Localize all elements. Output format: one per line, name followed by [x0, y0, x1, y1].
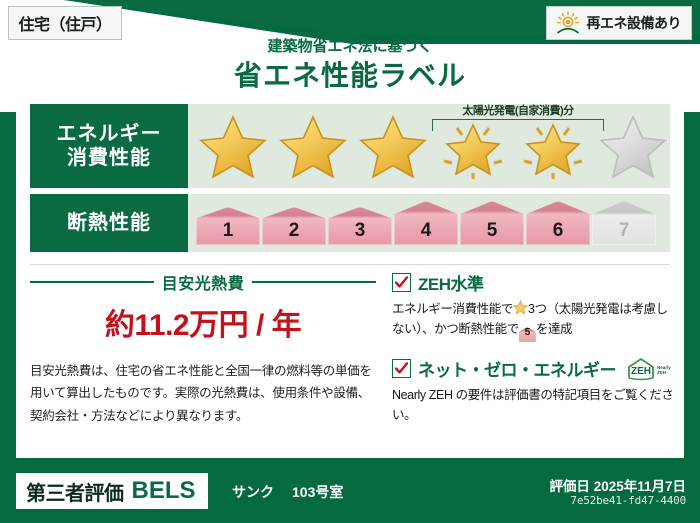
insulation-badge-6: 6	[526, 201, 590, 245]
energy-rating-area: 太陽光発電(自家消費)分	[188, 104, 670, 188]
zeh-desc-part-b: 3つ（太陽光発電	[528, 302, 619, 316]
net-zero-energy-checkbox[interactable]	[392, 359, 411, 378]
solar-annotation: 太陽光発電(自家消費)分	[432, 102, 604, 131]
housing-type-chip: 住宅（住戸）	[8, 6, 122, 40]
title-subtitle: 建築物省エネ法に基づく	[0, 38, 700, 57]
zeh-desc-part-a: エネルギー消費性能で	[392, 302, 513, 316]
zeh-desc-part-d: を達成	[536, 322, 572, 336]
insulation-badge-1-num: 1	[223, 220, 234, 242]
insulation-badge-3-num: 3	[355, 220, 366, 242]
heading-rule-left	[30, 281, 154, 283]
property-name: サンク	[232, 482, 274, 502]
insulation-performance-label: 断熱性能	[30, 194, 188, 252]
utility-cost-note: 目安光熱費は、住宅の省エネ性能と全国一律の燃料等の単価を用いて算出したものです。…	[30, 360, 376, 427]
insulation-badge-3: 3	[328, 207, 392, 245]
check-icon	[394, 275, 409, 290]
label-title-block: 建築物省エネ法に基づく 省エネ性能ラベル	[0, 38, 700, 92]
inline-star-icon	[513, 300, 528, 315]
energy-label-line2: 消費性能	[67, 146, 151, 170]
insulation-badge-2-num: 2	[289, 220, 300, 242]
insulation-badge-4-num: 4	[421, 220, 432, 242]
zeh-standard-description: エネルギー消費性能で 3つ（太陽光発電は考慮しない）、かつ断熱性能で5を達成	[392, 299, 674, 342]
insulation-badge-2: 2	[262, 207, 326, 245]
insulation-badge-5-num: 5	[487, 220, 498, 242]
insulation-badge-6-num: 6	[553, 220, 564, 242]
star-1	[194, 111, 272, 181]
svg-text:ZEH: ZEH	[631, 366, 651, 377]
energy-performance-label: 住宅（住戸） 再エネ設備あり 建築物省エネ法に基づく	[0, 0, 700, 523]
label-footer: 第三者評価 BELS サンク 103号室 評価日 2025年11月7日 7e52…	[0, 461, 700, 523]
utility-cost-block: 目安光熱費 約11.2万円 / 年 目安光熱費は、住宅の省エネ性能と全国一律の燃…	[30, 270, 376, 427]
utility-cost-heading-label: 目安光熱費	[162, 270, 245, 294]
svg-text:ZEH: ZEH	[657, 370, 666, 375]
label-card: エネルギー 消費性能 太陽光発電(自家消費)分	[16, 98, 684, 458]
insulation-performance-row: 断熱性能 1 2 3 4 5	[30, 194, 670, 252]
zeh-standard-checkbox[interactable]	[392, 273, 411, 292]
bels-jp-label: 第三者評価	[26, 477, 124, 506]
heading-rule-right	[252, 281, 376, 283]
insulation-rating-area: 1 2 3 4 5 6	[188, 194, 670, 252]
net-zero-energy-title: ネット・ゼロ・エネルギー	[418, 356, 616, 381]
solar-annotation-label: 太陽光発電(自家消費)分	[432, 102, 604, 118]
inline-insulation-badge: 5	[519, 327, 536, 342]
insulation-badge-7-empty: 7	[592, 201, 656, 245]
energy-performance-row: エネルギー 消費性能 太陽光発電(自家消費)分	[30, 104, 670, 188]
check-icon	[394, 361, 409, 376]
title-main: 省エネ性能ラベル	[0, 59, 700, 93]
utility-cost-value: 約11.2万円 / 年	[30, 300, 376, 344]
energy-label-line1: エネルギー	[57, 122, 162, 146]
insulation-badge-1: 1	[196, 207, 260, 245]
room-number: 103号室	[292, 482, 343, 502]
bels-en-label: BELS	[132, 477, 196, 505]
zeh-block: ZEH水準 エネルギー消費性能で 3つ（太陽光発電は考慮しない）、かつ断熱性能で…	[392, 270, 674, 425]
insulation-badge-7-num: 7	[619, 220, 630, 242]
insulation-badge-4: 4	[394, 201, 458, 245]
net-zero-energy-description: Nearly ZEH の要件は評価書の特記項目をご覧ください。	[392, 385, 674, 425]
housing-type-label: 住宅（住戸）	[18, 11, 111, 35]
insulation-label-text: 断熱性能	[67, 211, 151, 235]
star-2	[274, 111, 352, 181]
section-divider	[30, 264, 670, 265]
zeh-standard-title: ZEH水準	[418, 270, 484, 295]
zeh-house-logo-icon: ZEH Nearly ZEH	[625, 357, 671, 381]
renewable-equipment-badge: 再エネ設備あり	[546, 6, 693, 40]
bels-certification-plate: 第三者評価 BELS	[16, 473, 208, 509]
solar-bracket	[432, 119, 604, 131]
evaluation-date: 評価日 2025年11月7日	[549, 475, 686, 495]
net-zero-energy-item: ネット・ゼロ・エネルギー ZEH Nearly ZEH Nearly ZEH の…	[392, 356, 674, 425]
renewable-badge-label: 再エネ設備あり	[587, 13, 682, 33]
sun-solar-icon	[555, 11, 581, 35]
utility-cost-heading: 目安光熱費	[30, 270, 376, 294]
evaluation-id: 7e52be41-fd47-4400	[570, 494, 686, 507]
star-3	[354, 111, 432, 181]
energy-performance-label: エネルギー 消費性能	[30, 104, 188, 188]
zeh-standard-head: ZEH水準	[392, 270, 674, 295]
zeh-standard-item: ZEH水準 エネルギー消費性能で 3つ（太陽光発電は考慮しない）、かつ断熱性能で…	[392, 270, 674, 342]
insulation-badge-scale: 1 2 3 4 5 6	[196, 201, 656, 245]
insulation-badge-5: 5	[460, 201, 524, 245]
net-zero-energy-head: ネット・ゼロ・エネルギー ZEH Nearly ZEH	[392, 356, 674, 381]
star-6-empty	[594, 111, 672, 181]
